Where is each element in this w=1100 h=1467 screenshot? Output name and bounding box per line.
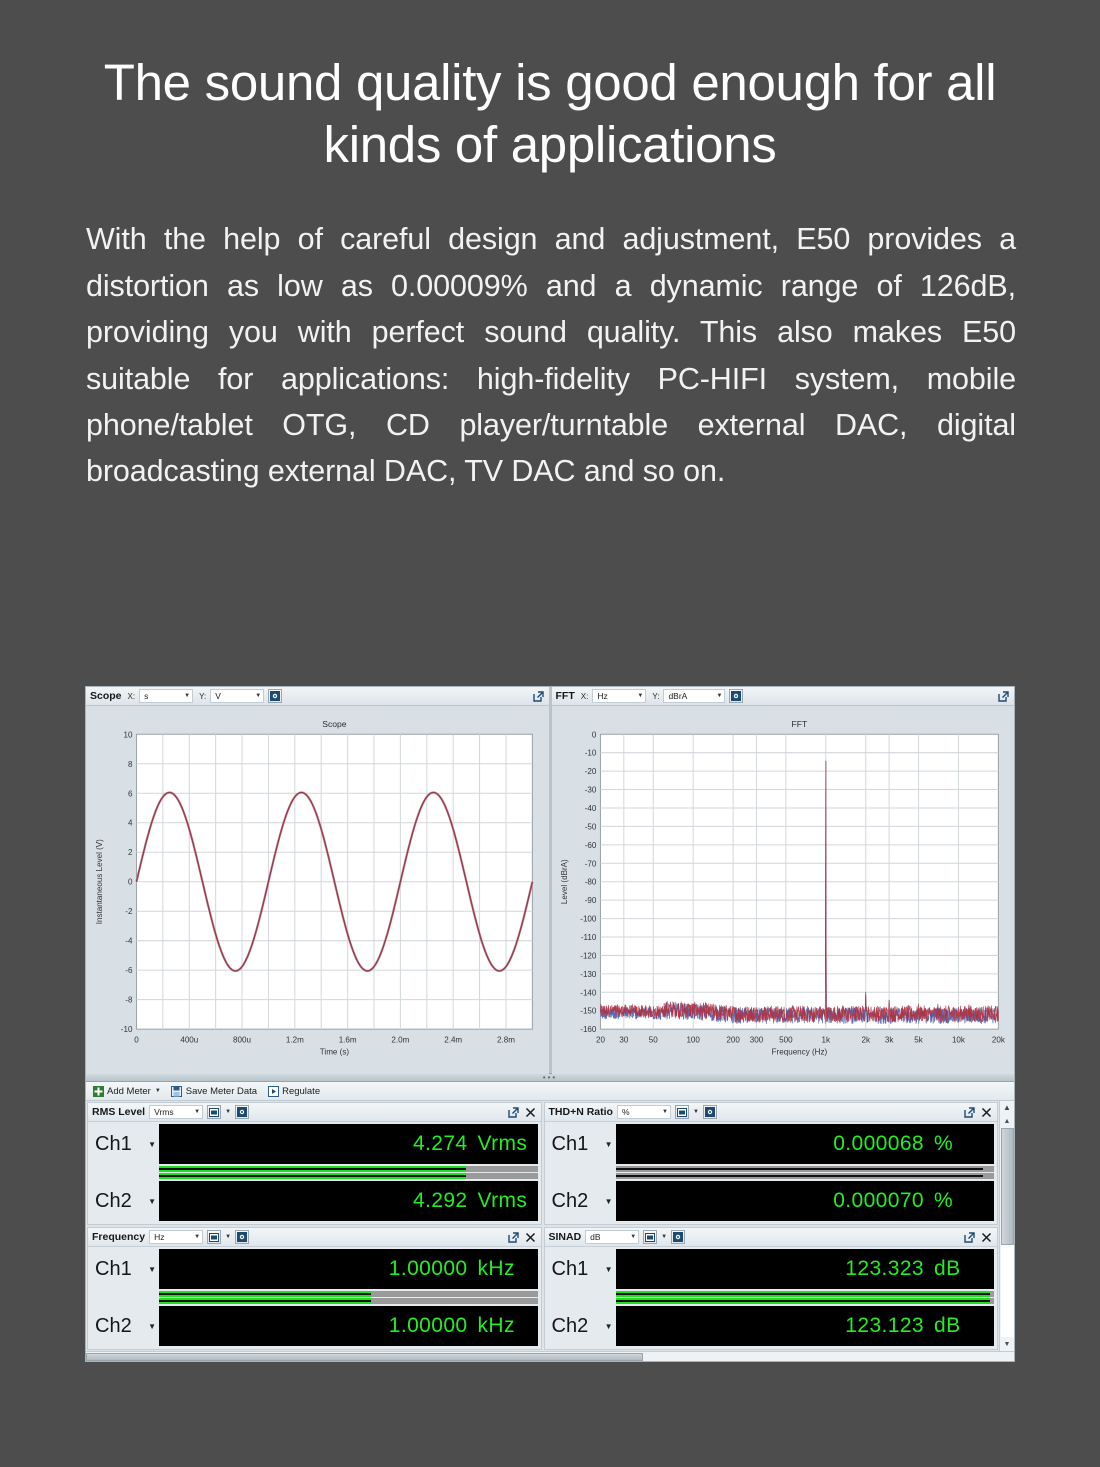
meter-value-unit: kHz — [478, 1257, 530, 1281]
meter-readout: 0.000070% — [616, 1181, 995, 1221]
meter-display-mode-button[interactable] — [643, 1230, 657, 1244]
svg-text:1.6m: 1.6m — [339, 1035, 357, 1044]
add-meter-label: Add Meter — [107, 1086, 151, 1097]
chevron-down-icon: ▼ — [194, 1234, 200, 1240]
regulate-label: Regulate — [282, 1086, 320, 1097]
vscroll-track[interactable] — [1001, 1128, 1014, 1337]
meter-bar — [616, 1173, 995, 1179]
meter-title: Frequency — [92, 1231, 145, 1243]
window-horizontal-scrollbar[interactable] — [86, 1351, 1014, 1361]
meter-close-button[interactable] — [524, 1106, 537, 1119]
close-icon — [981, 1107, 992, 1118]
save-meter-data-button[interactable]: Save Meter Data — [171, 1085, 257, 1097]
fft-plot-svg: FFT 0-10-20-30-40-50-60-70-80-90-100-110… — [554, 708, 1011, 1072]
svg-text:-4: -4 — [125, 937, 133, 946]
chevron-down-icon: ▼ — [605, 1265, 613, 1274]
svg-text:6: 6 — [128, 789, 133, 798]
chevron-up-icon[interactable]: ▲ — [1000, 1114, 1015, 1128]
chevron-down-icon: ▼ — [605, 1140, 613, 1149]
chevron-down-icon: ▼ — [148, 1322, 156, 1331]
popout-icon — [533, 691, 544, 702]
gear-icon — [237, 1232, 247, 1242]
scope-y-axis-tag: Y: — [197, 692, 206, 701]
meter-readout: 1.00000kHz — [159, 1306, 538, 1346]
svg-text:Frequency (Hz): Frequency (Hz) — [771, 1047, 827, 1056]
svg-text:-20: -20 — [584, 767, 596, 776]
meter-channel-row: Ch2▼4.292Vrms — [91, 1181, 538, 1221]
plus-icon — [92, 1085, 104, 1097]
svg-text:Instantaneous Level (V): Instantaneous Level (V) — [95, 839, 104, 924]
svg-text:-10: -10 — [121, 1025, 133, 1034]
chevron-down-icon[interactable]: ▼ — [1000, 1337, 1015, 1351]
chevron-down-icon: ▼ — [148, 1265, 156, 1274]
scope-x-unit-select[interactable]: s ▼ — [139, 689, 193, 703]
meter-value-unit: kHz — [478, 1314, 530, 1338]
channel-selector[interactable]: Ch1▼ — [91, 1124, 159, 1164]
meter-readout: 1.00000kHz — [159, 1249, 538, 1289]
chevron-down-icon: ▼ — [605, 1197, 613, 1206]
collapse-icon[interactable]: ▲ — [1000, 1101, 1015, 1114]
channel-label: Ch2 — [552, 1315, 589, 1338]
panel-splitter[interactable]: ••• — [86, 1073, 1014, 1082]
svg-text:-140: -140 — [580, 988, 597, 997]
hscroll-track[interactable] — [643, 1353, 1014, 1361]
channel-label: Ch1 — [552, 1133, 589, 1156]
meter-display-mode-button[interactable] — [207, 1105, 221, 1119]
popout-icon — [964, 1232, 975, 1243]
meter-bargraphs — [91, 1289, 538, 1306]
gear-icon — [237, 1107, 247, 1117]
chevron-down-icon: ▼ — [184, 693, 190, 699]
meter-title: RMS Level — [92, 1106, 145, 1118]
meter-value: 123.323 — [845, 1257, 924, 1281]
meter-channel-row: Ch2▼1.00000kHz — [91, 1306, 538, 1346]
meter-header: THD+N Ratio%▼▼ — [545, 1103, 998, 1122]
chevron-down-icon: ▼ — [148, 1140, 156, 1149]
scope-y-unit-select[interactable]: V ▼ — [210, 689, 264, 703]
svg-text:-70: -70 — [584, 859, 596, 868]
play-icon — [267, 1085, 279, 1097]
channel-label: Ch2 — [95, 1190, 132, 1213]
meter-value-unit: Vrms — [478, 1132, 530, 1156]
meter-popout-button[interactable] — [963, 1231, 976, 1244]
fft-popout-button[interactable] — [997, 690, 1010, 703]
svg-text:0: 0 — [591, 730, 596, 739]
svg-text:-90: -90 — [584, 896, 596, 905]
svg-text:-100: -100 — [580, 915, 597, 924]
svg-text:-2: -2 — [125, 907, 133, 916]
fft-y-axis-tag: Y: — [650, 692, 659, 701]
meter-bar — [616, 1298, 995, 1304]
chevron-down-icon: ▼ — [155, 1088, 161, 1094]
meter-bar — [159, 1298, 538, 1304]
meter-panel: SINADdB▼▼Ch1▼123.323dBCh2▼123.123dB — [544, 1227, 999, 1350]
meter-channel-row: Ch1▼4.274Vrms — [91, 1124, 538, 1164]
chevron-down-icon: ▼ — [148, 1197, 156, 1206]
meter-bargraphs — [91, 1164, 538, 1181]
meter-popout-button[interactable] — [963, 1106, 976, 1119]
svg-text:8: 8 — [128, 760, 133, 769]
gear-icon — [731, 691, 741, 701]
meter-value-unit: dB — [934, 1314, 986, 1338]
channel-label: Ch1 — [552, 1258, 589, 1281]
close-icon — [525, 1107, 536, 1118]
meter-bar — [616, 1291, 995, 1297]
meter-unit-value: dB — [590, 1232, 600, 1242]
popout-icon — [508, 1107, 519, 1118]
popout-icon — [964, 1107, 975, 1118]
channel-label: Ch2 — [552, 1190, 589, 1213]
meter-value: 0.000070 — [833, 1189, 924, 1213]
meter-unit-select[interactable]: Hz▼ — [149, 1230, 203, 1244]
fft-x-unit-value: Hz — [597, 691, 607, 701]
meter-unit-value: Hz — [154, 1232, 164, 1242]
chevron-down-icon: ▼ — [661, 1234, 667, 1240]
svg-text:-50: -50 — [584, 822, 596, 831]
splitter-handle: ••• — [543, 1074, 557, 1082]
meter-value-unit: dB — [934, 1257, 986, 1281]
meter-value: 1.00000 — [389, 1257, 468, 1281]
meter-unit-select[interactable]: dB▼ — [585, 1230, 639, 1244]
body-paragraph: With the help of careful design and adju… — [86, 216, 1016, 494]
meter-display-mode-button[interactable] — [675, 1105, 689, 1119]
scope-plot: Scope — [86, 706, 549, 1074]
scope-plot-svg: Scope — [88, 708, 545, 1072]
meter-body: Ch1▼4.274VrmsCh2▼4.292Vrms — [88, 1122, 541, 1224]
fft-panel-header: FFT X: Hz ▼ Y: dBrA ▼ — [552, 687, 1015, 706]
fft-panel: FFT X: Hz ▼ Y: dBrA ▼ — [549, 687, 1015, 1073]
fft-x-axis-tag: X: — [579, 692, 589, 701]
close-icon — [525, 1232, 536, 1243]
popout-icon — [998, 691, 1009, 702]
meter-bar — [159, 1173, 538, 1179]
meter-title: THD+N Ratio — [549, 1106, 613, 1118]
channel-label: Ch1 — [95, 1133, 132, 1156]
svg-text:0: 0 — [128, 878, 133, 887]
close-icon — [981, 1232, 992, 1243]
meter-unit-select[interactable]: %▼ — [617, 1105, 671, 1119]
meter-channel-row: Ch1▼0.000068% — [548, 1124, 995, 1164]
meter-settings-button[interactable] — [235, 1230, 249, 1244]
meter-bargraphs — [548, 1289, 995, 1306]
meter-channel-row: Ch1▼123.323dB — [548, 1249, 995, 1289]
meter-title: SINAD — [549, 1231, 582, 1243]
meter-popout-button[interactable] — [507, 1106, 520, 1119]
svg-text:-10: -10 — [584, 749, 596, 758]
meter-settings-button[interactable] — [235, 1105, 249, 1119]
meter-readout: 123.123dB — [616, 1306, 995, 1346]
channel-label: Ch2 — [95, 1315, 132, 1338]
meters-grid: RMS LevelVrms▼▼Ch1▼4.274VrmsCh2▼4.292Vrm… — [86, 1101, 999, 1351]
channel-selector[interactable]: Ch2▼ — [91, 1306, 159, 1346]
meter-bar — [159, 1291, 538, 1297]
channel-label: Ch1 — [95, 1258, 132, 1281]
meter-bar — [159, 1166, 538, 1172]
meter-readout: 4.292Vrms — [159, 1181, 538, 1221]
meter-panel: FrequencyHz▼▼Ch1▼1.00000kHzCh2▼1.00000kH… — [87, 1227, 542, 1350]
channel-selector[interactable]: Ch2▼ — [91, 1181, 159, 1221]
meter-close-button[interactable] — [524, 1231, 537, 1244]
meters-area: RMS LevelVrms▼▼Ch1▼4.274VrmsCh2▼4.292Vrm… — [86, 1101, 1014, 1351]
svg-text:-40: -40 — [584, 804, 596, 813]
vscroll-thumb[interactable] — [1001, 1128, 1014, 1245]
svg-text:400u: 400u — [180, 1035, 198, 1044]
svg-text:-8: -8 — [125, 996, 133, 1005]
chevron-down-icon: ▼ — [662, 1109, 668, 1115]
svg-text:100: 100 — [686, 1035, 700, 1044]
channel-selector[interactable]: Ch2▼ — [548, 1306, 616, 1346]
svg-text:Time (s): Time (s) — [320, 1047, 350, 1056]
add-meter-button[interactable]: Add Meter ▼ — [92, 1085, 161, 1097]
chevron-down-icon: ▼ — [194, 1109, 200, 1115]
svg-text:10: 10 — [123, 730, 132, 739]
svg-text:10k: 10k — [951, 1035, 965, 1044]
scope-panel-title: Scope — [90, 690, 122, 702]
svg-text:1k: 1k — [821, 1035, 830, 1044]
meter-bar — [616, 1166, 995, 1172]
svg-text:-150: -150 — [580, 1007, 597, 1016]
meter-panel: THD+N Ratio%▼▼Ch1▼0.000068%Ch2▼0.000070% — [544, 1102, 999, 1225]
meter-value: 1.00000 — [389, 1314, 468, 1338]
chevron-down-icon: ▼ — [630, 1234, 636, 1240]
channel-selector[interactable]: Ch1▼ — [548, 1124, 616, 1164]
svg-text:4: 4 — [128, 819, 133, 828]
meter-panel: RMS LevelVrms▼▼Ch1▼4.274VrmsCh2▼4.292Vrm… — [87, 1102, 542, 1225]
svg-text:-80: -80 — [584, 878, 596, 887]
meter-unit-value: % — [622, 1107, 630, 1117]
meter-display-mode-button[interactable] — [207, 1230, 221, 1244]
meter-value-unit: Vrms — [478, 1189, 530, 1213]
fft-plot: FFT 0-10-20-30-40-50-60-70-80-90-100-110… — [552, 706, 1015, 1074]
meter-close-button[interactable] — [980, 1231, 993, 1244]
meter-value: 4.292 — [413, 1189, 468, 1213]
svg-text:2: 2 — [128, 848, 133, 857]
chevron-down-icon: ▼ — [716, 693, 722, 699]
meter-settings-button[interactable] — [671, 1230, 685, 1244]
fft-y-unit-value: dBrA — [668, 691, 687, 701]
svg-text:20: 20 — [595, 1035, 604, 1044]
svg-text:5k: 5k — [914, 1035, 923, 1044]
meter-body: Ch1▼123.323dBCh2▼123.123dB — [545, 1247, 998, 1349]
scope-x-unit-value: s — [144, 691, 148, 701]
gear-icon — [705, 1107, 715, 1117]
channel-selector[interactable]: Ch1▼ — [91, 1249, 159, 1289]
meter-close-button[interactable] — [980, 1106, 993, 1119]
chevron-down-icon: ▼ — [255, 693, 261, 699]
scope-panel-header: Scope X: s ▼ Y: V ▼ — [86, 687, 549, 706]
meter-value-unit: % — [934, 1132, 986, 1156]
meter-unit-value: Vrms — [154, 1107, 174, 1117]
scope-panel: Scope X: s ▼ Y: V ▼ — [86, 687, 549, 1073]
meter-unit-select[interactable]: Vrms▼ — [149, 1105, 203, 1119]
svg-text:500: 500 — [779, 1035, 793, 1044]
svg-text:2.8m: 2.8m — [497, 1035, 515, 1044]
audio-analyzer-window: Scope X: s ▼ Y: V ▼ — [85, 686, 1015, 1362]
svg-text:30: 30 — [619, 1035, 628, 1044]
meter-bargraphs — [548, 1164, 995, 1181]
meter-settings-button[interactable] — [703, 1105, 717, 1119]
chevron-down-icon: ▼ — [693, 1109, 699, 1115]
meter-header: RMS LevelVrms▼▼ — [88, 1103, 541, 1122]
fft-x-unit-select[interactable]: Hz ▼ — [592, 689, 646, 703]
channel-selector[interactable]: Ch1▼ — [548, 1249, 616, 1289]
svg-text:20k: 20k — [991, 1035, 1005, 1044]
svg-text:-6: -6 — [125, 966, 133, 975]
svg-text:2.0m: 2.0m — [391, 1035, 409, 1044]
chevron-down-icon: ▼ — [225, 1234, 231, 1240]
meter-channel-row: Ch2▼0.000070% — [548, 1181, 995, 1221]
svg-text:1.2m: 1.2m — [286, 1035, 304, 1044]
meter-readout: 0.000068% — [616, 1124, 995, 1164]
svg-text:-130: -130 — [580, 970, 597, 979]
svg-text:800u: 800u — [233, 1035, 251, 1044]
meter-value: 0.000068 — [833, 1132, 924, 1156]
svg-text:50: 50 — [648, 1035, 657, 1044]
meter-header: FrequencyHz▼▼ — [88, 1228, 541, 1247]
svg-text:2k: 2k — [861, 1035, 870, 1044]
meter-value: 123.123 — [845, 1314, 924, 1338]
fft-panel-title: FFT — [556, 690, 575, 702]
meter-body: Ch1▼0.000068%Ch2▼0.000070% — [545, 1122, 998, 1224]
gear-icon — [673, 1232, 683, 1242]
svg-text:Scope: Scope — [322, 719, 347, 729]
hscroll-thumb[interactable] — [86, 1353, 643, 1361]
meter-header: SINADdB▼▼ — [545, 1228, 998, 1247]
graphs-row: Scope X: s ▼ Y: V ▼ — [86, 687, 1014, 1073]
meter-value: 4.274 — [413, 1132, 468, 1156]
meter-value-unit: % — [934, 1189, 986, 1213]
meter-channel-row: Ch1▼1.00000kHz — [91, 1249, 538, 1289]
scope-settings-button[interactable] — [268, 689, 282, 703]
svg-text:-30: -30 — [584, 786, 596, 795]
chevron-down-icon: ▼ — [605, 1322, 613, 1331]
meter-readout: 4.274Vrms — [159, 1124, 538, 1164]
meter-toolbar: Add Meter ▼ Save Meter Data Regulate — [86, 1082, 1014, 1101]
svg-text:0: 0 — [134, 1035, 139, 1044]
svg-text:300: 300 — [749, 1035, 763, 1044]
svg-text:-120: -120 — [580, 951, 597, 960]
channel-selector[interactable]: Ch2▼ — [548, 1181, 616, 1221]
save-meter-data-label: Save Meter Data — [186, 1086, 257, 1097]
scope-x-axis-tag: X: — [126, 692, 136, 701]
scope-popout-button[interactable] — [532, 690, 545, 703]
svg-text:Level (dBrA): Level (dBrA) — [560, 859, 569, 904]
page-title: The sound quality is good enough for all… — [0, 0, 1100, 176]
regulate-button[interactable]: Regulate — [267, 1085, 320, 1097]
svg-text:-110: -110 — [580, 933, 596, 942]
meter-channel-row: Ch2▼123.123dB — [548, 1306, 995, 1346]
fft-y-unit-select[interactable]: dBrA ▼ — [663, 689, 725, 703]
chevron-down-icon: ▼ — [225, 1109, 231, 1115]
svg-text:-60: -60 — [584, 841, 596, 850]
fft-settings-button[interactable] — [729, 689, 743, 703]
meters-vertical-scrollbar[interactable]: ▲ ▲ ▼ — [999, 1101, 1014, 1351]
chevron-down-icon: ▼ — [637, 693, 643, 699]
svg-text:-160: -160 — [580, 1025, 597, 1034]
meter-popout-button[interactable] — [507, 1231, 520, 1244]
gear-icon — [270, 691, 280, 701]
popout-icon — [508, 1232, 519, 1243]
scope-y-unit-value: V — [215, 691, 221, 701]
svg-text:200: 200 — [726, 1035, 740, 1044]
svg-text:FFT: FFT — [791, 719, 807, 729]
svg-text:3k: 3k — [884, 1035, 893, 1044]
svg-text:2.4m: 2.4m — [444, 1035, 462, 1044]
meter-readout: 123.323dB — [616, 1249, 995, 1289]
save-icon — [171, 1085, 183, 1097]
meter-body: Ch1▼1.00000kHzCh2▼1.00000kHz — [88, 1247, 541, 1349]
